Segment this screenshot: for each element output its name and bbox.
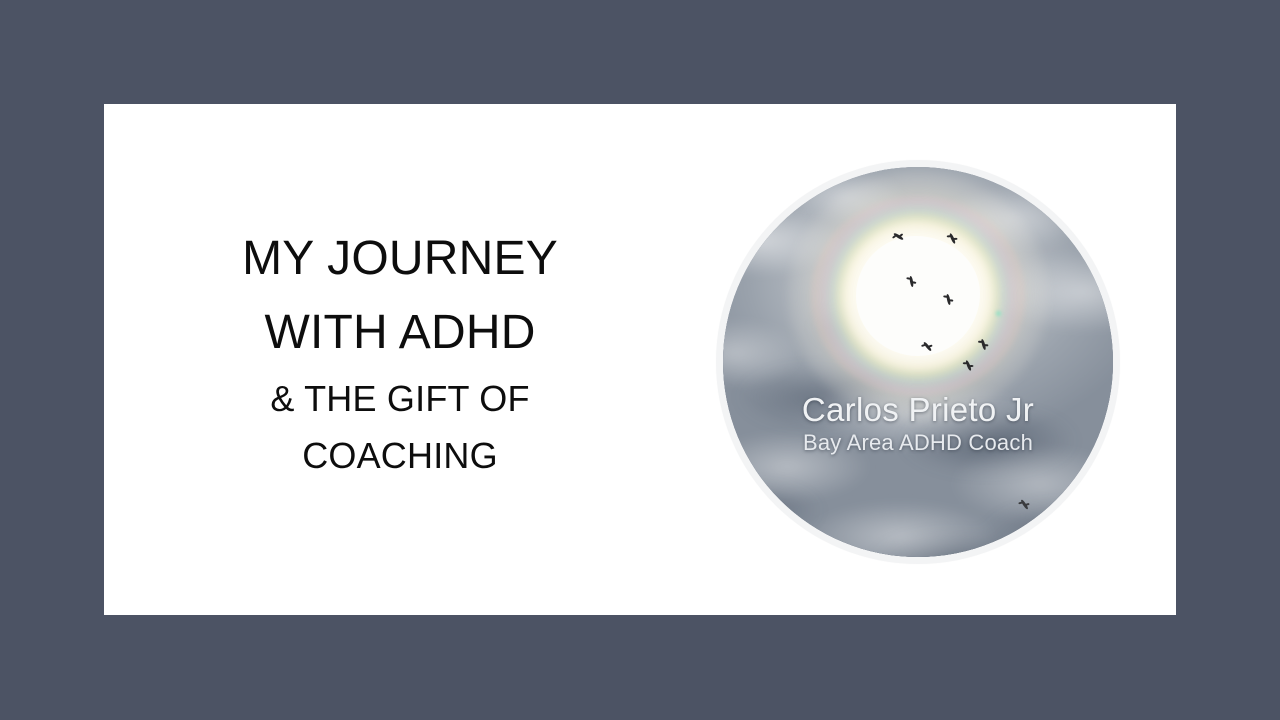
title-line-2: WITH ADHD [120,296,680,370]
circular-sky-photo: Carlos Prieto Jr Bay Area ADHD Coach [723,167,1113,557]
sun-icon [856,236,980,356]
slide-canvas: MY JOURNEY WITH ADHD & THE GIFT OF COACH… [104,104,1176,615]
slide-stage: MY JOURNEY WITH ADHD & THE GIFT OF COACH… [0,0,1280,720]
title-line-1: MY JOURNEY [120,222,680,296]
title-block: MY JOURNEY WITH ADHD & THE GIFT OF COACH… [120,222,680,484]
subtitle-line-1: & THE GIFT OF [120,370,680,427]
subtitle-line-2: COACHING [120,427,680,484]
circular-photo-frame: Carlos Prieto Jr Bay Area ADHD Coach [716,160,1120,564]
